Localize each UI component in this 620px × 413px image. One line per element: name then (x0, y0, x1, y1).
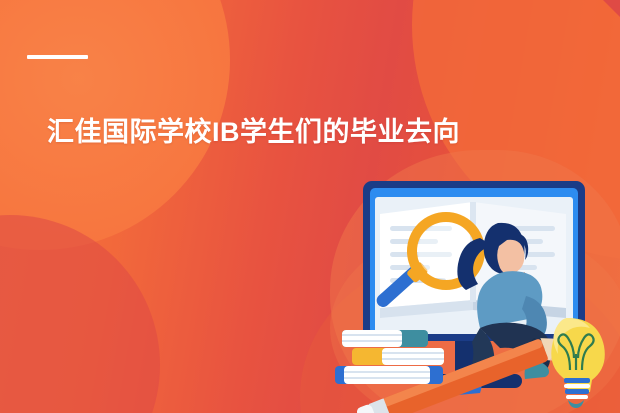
study-research-illustration (330, 178, 620, 413)
promo-banner: 汇佳国际学校IB学生们的毕业去向 (0, 0, 620, 413)
book-top (342, 330, 428, 347)
background-corner-wedge (595, 0, 620, 52)
book-middle (352, 348, 444, 365)
title-underline-rule (27, 55, 88, 59)
background-circle-bottom-left (0, 215, 160, 413)
page-title: 汇佳国际学校IB学生们的毕业去向 (47, 115, 460, 149)
book-bottom (335, 366, 443, 384)
